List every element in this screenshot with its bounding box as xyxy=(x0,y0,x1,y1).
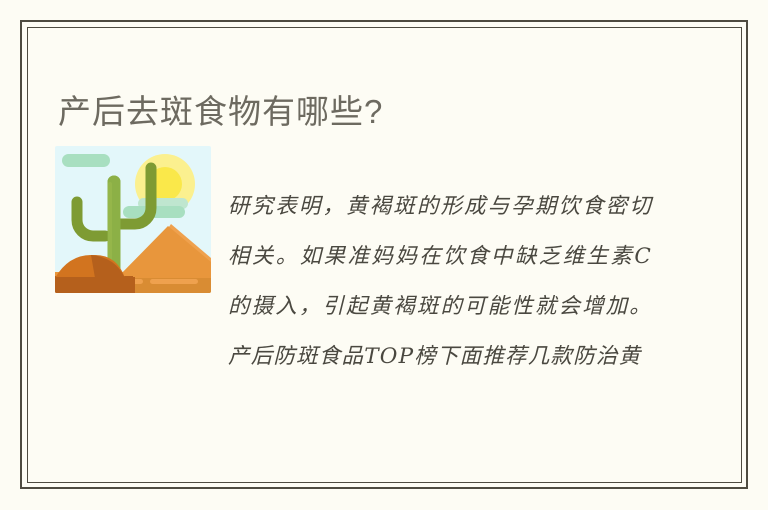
page-root: 产后去斑食物有哪些? xyxy=(0,0,768,510)
page-title: 产后去斑食物有哪些? xyxy=(58,90,383,134)
desert-cactus-icon xyxy=(55,146,211,293)
desert-cactus-illustration xyxy=(55,146,211,293)
article-body: 研究表明，黄褐斑的形成与孕期饮食密切相关。如果准妈妈在饮食中缺乏维生素C的摄入，… xyxy=(228,182,652,382)
